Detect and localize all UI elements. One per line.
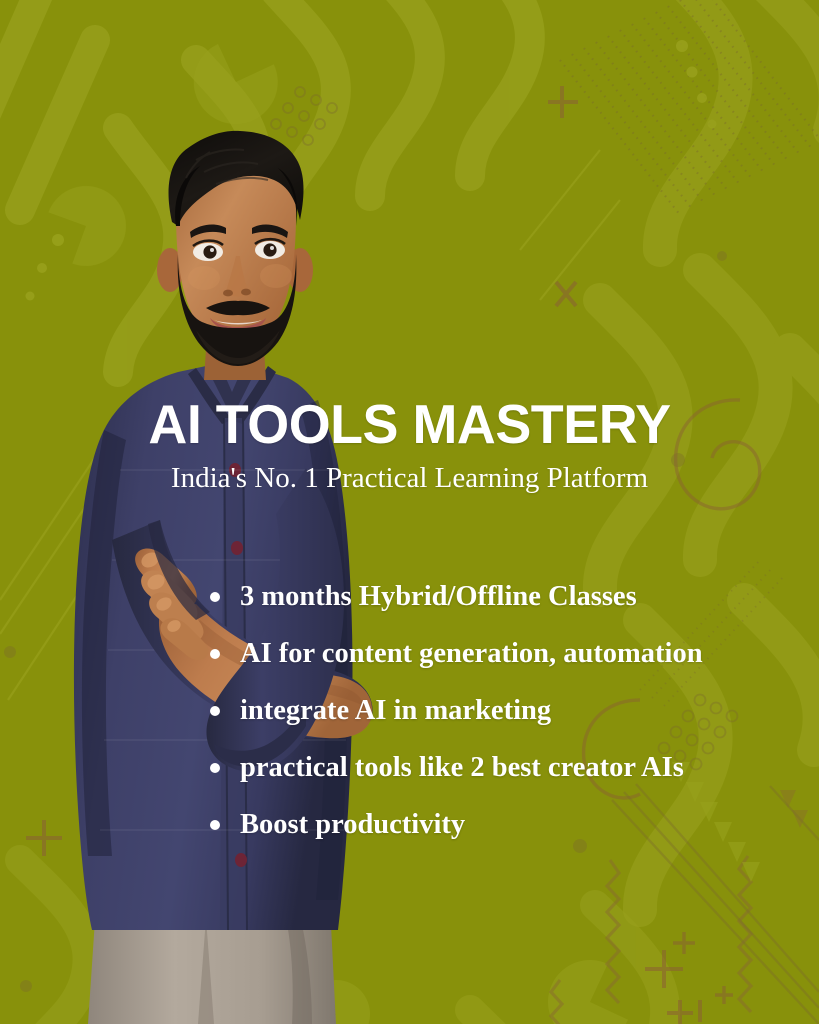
bullet-dot-icon <box>210 820 220 830</box>
bullet-dot-icon <box>210 649 220 659</box>
list-item-label: Boost productivity <box>240 808 465 842</box>
subject-photo-figure <box>0 0 520 1024</box>
bullet-dot-icon <box>210 763 220 773</box>
bullet-dot-icon <box>210 706 220 716</box>
list-item-label: AI for content generation, automation <box>240 637 703 671</box>
bullet-dot-icon <box>210 592 220 602</box>
list-item: integrate AI in marketing <box>206 682 806 739</box>
feature-bullet-list: 3 months Hybrid/Offline Classes AI for c… <box>206 568 806 853</box>
list-item: AI for content generation, automation <box>206 625 806 682</box>
list-item: Boost productivity <box>206 796 806 853</box>
list-item-label: practical tools like 2 best creator AIs <box>240 751 684 785</box>
page-subtitle: India's No. 1 Practical Learning Platfor… <box>0 462 819 494</box>
page-title: AI TOOLS MASTERY <box>8 396 811 452</box>
list-item: practical tools like 2 best creator AIs <box>206 739 806 796</box>
promotional-poster: AI TOOLS MASTERY India's No. 1 Practical… <box>0 0 819 1024</box>
head <box>157 131 313 366</box>
headline-block: AI TOOLS MASTERY India's No. 1 Practical… <box>0 396 819 494</box>
list-item: 3 months Hybrid/Offline Classes <box>206 568 806 625</box>
list-item-label: 3 months Hybrid/Offline Classes <box>240 580 637 614</box>
list-item-label: integrate AI in marketing <box>240 694 551 728</box>
